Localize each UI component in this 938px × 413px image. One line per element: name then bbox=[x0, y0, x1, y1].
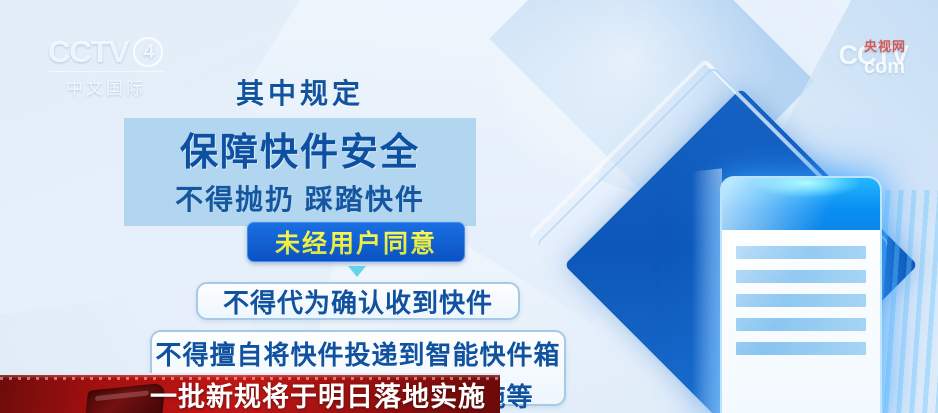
rule-text: 不得代为确认收到快件 bbox=[223, 283, 493, 320]
broadcast-screenshot: CCTV 4 中文国际 CCTV 央视网 com 其中规定 保障快件安全 不得抛… bbox=[0, 0, 938, 413]
condition-pill-label: 未经用户同意 bbox=[275, 224, 437, 260]
headline-main-title: 保障快件安全 bbox=[124, 121, 476, 176]
news-ticker-title: 一批新规将于明日落地实施 bbox=[150, 375, 486, 413]
cctv-wordmark: CCTV bbox=[48, 34, 128, 70]
headline-block: 其中规定 保障快件安全 不得抛扔 踩踏快件 bbox=[0, 72, 600, 226]
channel-number: 4 bbox=[133, 37, 163, 67]
rule-box-first: 不得代为确认收到快件 bbox=[196, 282, 520, 320]
headline-intro: 其中规定 bbox=[0, 72, 600, 112]
headline-main-subtitle: 不得抛扔 踩踏快件 bbox=[124, 178, 476, 218]
chevron-down-icon bbox=[348, 266, 366, 277]
rule-text-line-one: 不得擅自将快件投递到智能快件箱 bbox=[152, 335, 564, 372]
cctvcom-watermark: CCTV 央视网 com bbox=[839, 40, 909, 71]
cctv4-wordmark-row: CCTV 4 bbox=[48, 34, 178, 70]
cctvcom-domain: com bbox=[864, 56, 905, 79]
card-light-strip bbox=[692, 168, 722, 413]
document-graphic bbox=[596, 130, 926, 413]
news-ticker-banner: 一批新规将于明日落地实施 bbox=[0, 373, 500, 413]
document-card-sheen bbox=[722, 178, 880, 413]
headline-highlight-band: 保障快件安全 不得抛扔 踩踏快件 bbox=[124, 118, 476, 226]
yangshiwang-mark: 央视网 bbox=[864, 36, 906, 55]
condition-pill: 未经用户同意 bbox=[247, 222, 465, 262]
document-card-icon bbox=[720, 176, 882, 413]
